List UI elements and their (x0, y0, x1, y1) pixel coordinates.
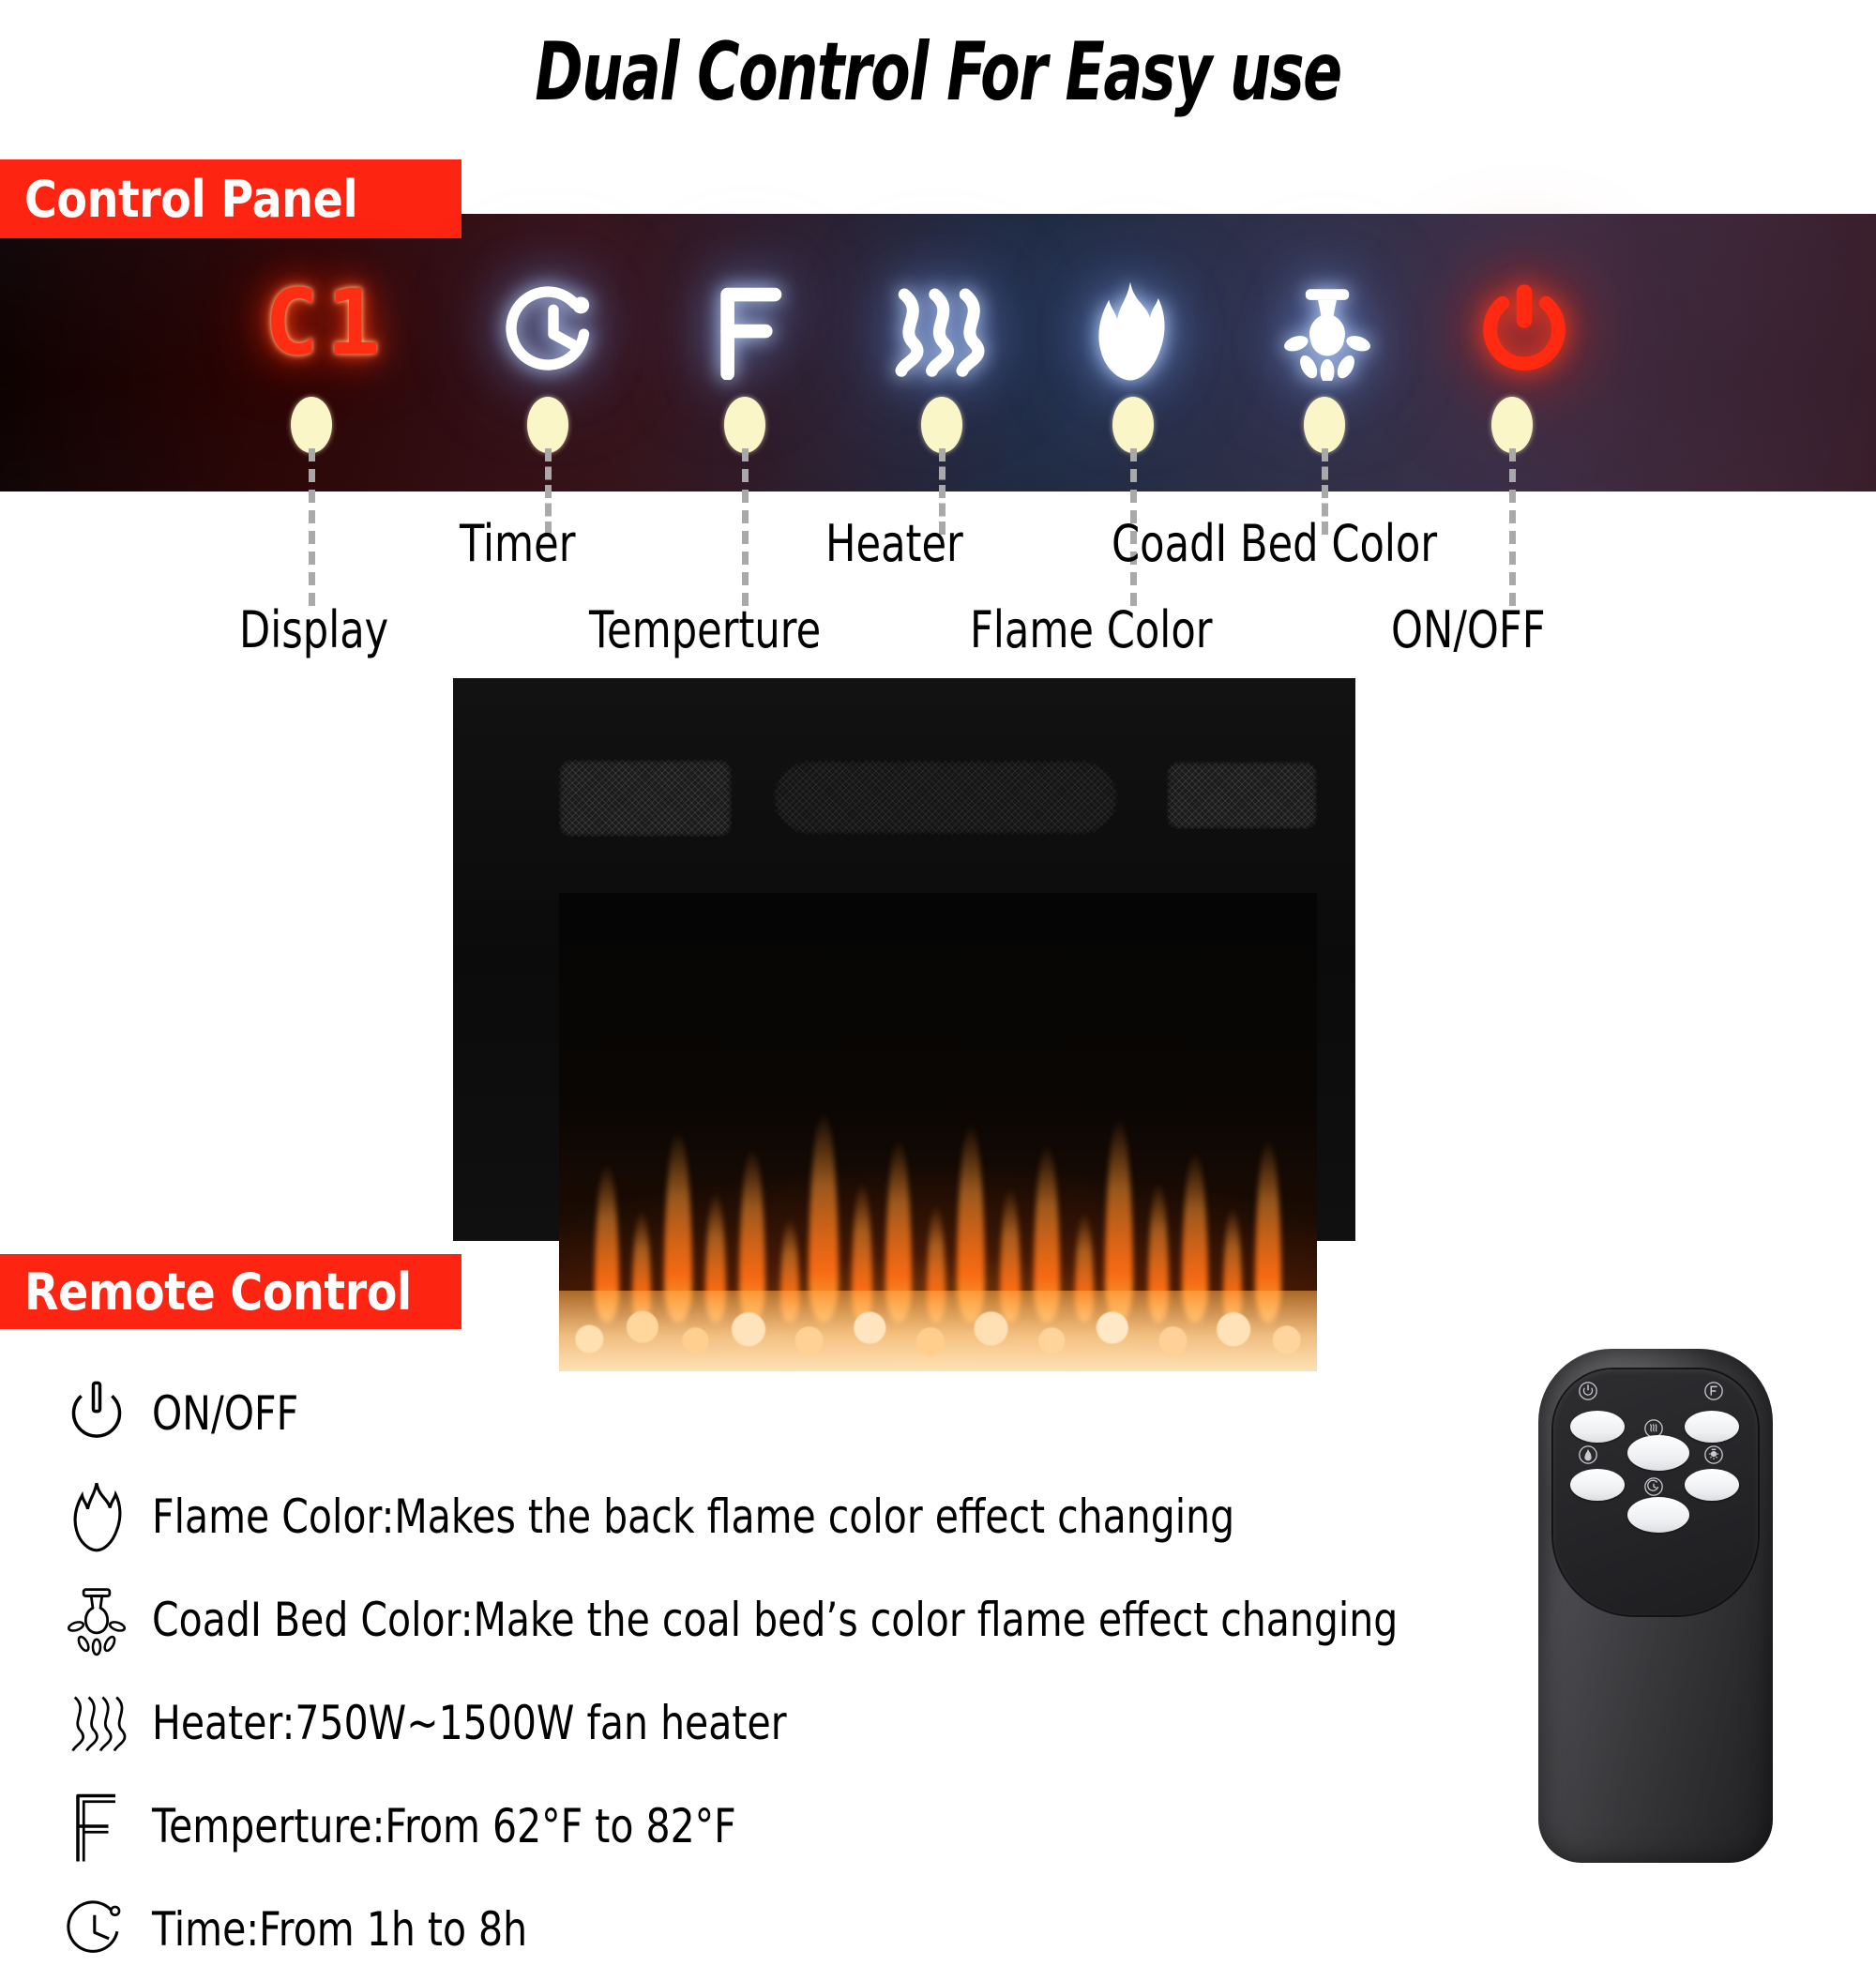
callout-label-on-off: ON/OFF (1391, 600, 1546, 659)
vent-grille-left (559, 760, 732, 837)
remote-button[interactable] (1627, 1497, 1689, 1533)
display-readout: C1 (265, 270, 388, 375)
callout-label-heater: Heater (825, 514, 963, 573)
temperature-f-icon (56, 1786, 137, 1867)
list-item: Time:From 1h to 8h (56, 1878, 1520, 1981)
callout-label-temperture: Temperture (589, 600, 821, 659)
callout-marker (724, 397, 765, 453)
remote-button[interactable] (1570, 1469, 1625, 1501)
coal-bed-bulb-icon[interactable] (1266, 280, 1388, 383)
timer-icon-glyph (505, 282, 602, 380)
list-item: CoadI Bed Color:Make the coal bed’s colo… (56, 1568, 1520, 1671)
coal-bed-bulb-icon (56, 1580, 137, 1660)
list-item-text: Temperture:From 62°F to 82°F (152, 1799, 736, 1853)
fireplace-product-image (453, 678, 1355, 1241)
flame-icon (1574, 1441, 1602, 1469)
list-item-text: Flame Color:Makes the back flame color e… (152, 1490, 1234, 1544)
coal-bed-bulb-icon (1700, 1441, 1728, 1469)
power-icon[interactable] (1463, 280, 1585, 383)
power-icon (56, 1373, 137, 1454)
timer-icon (56, 1889, 137, 1970)
callout-marker (291, 397, 332, 453)
firebox-window (559, 893, 1317, 1371)
ember-crystal-bed (559, 1291, 1317, 1371)
flame-icon[interactable] (1069, 280, 1191, 383)
callout-marker (1491, 397, 1533, 453)
temperature-f-icon[interactable] (694, 280, 807, 383)
callout-leader (1509, 448, 1516, 606)
heater-waves-icon (56, 1683, 137, 1763)
callout-leader (742, 448, 749, 606)
control-panel-strip: Control Panel C1 (0, 214, 1876, 491)
list-item-text: Time:From 1h to 8h (152, 1902, 527, 1957)
remote-button[interactable] (1685, 1411, 1739, 1443)
power-icon (1574, 1377, 1602, 1405)
list-item-text: CoadI Bed Color:Make the coal bed’s colo… (152, 1593, 1398, 1647)
temperature-f-icon (1700, 1377, 1728, 1405)
vent-grille-center (773, 760, 1118, 835)
callout-marker (527, 397, 568, 453)
list-item-text: Heater:750W~1500W fan heater (152, 1696, 787, 1750)
timer-icon[interactable] (497, 280, 610, 383)
temperature-f-icon-glyph (707, 282, 794, 380)
heater-waves-icon[interactable] (872, 280, 1004, 383)
flame-icon (56, 1476, 137, 1557)
callout-label-coal-bed-color: CoadI Bed Color (1112, 514, 1437, 573)
remote-keypad (1553, 1369, 1758, 1615)
callout-label-timer: Timer (460, 514, 575, 573)
list-item-text: ON/OFF (152, 1386, 298, 1441)
remote-button[interactable] (1570, 1411, 1625, 1443)
coal-bed-bulb-icon-glyph (1278, 281, 1377, 381)
page-title: Dual Control For Easy use (263, 32, 1613, 114)
list-item: ON/OFF (56, 1362, 1520, 1465)
callout-label-display: Display (239, 600, 388, 659)
callout-label-flame-color: Flame Color (970, 600, 1213, 659)
callout-marker (921, 397, 962, 453)
remote-button[interactable] (1627, 1435, 1689, 1471)
callout-marker (1112, 397, 1154, 453)
control-panel-badge-label: Control Panel (24, 170, 357, 229)
flame-icon-glyph (1085, 279, 1175, 384)
remote-control-badge: Remote Control (0, 1254, 461, 1329)
remote-feature-list: ON/OFF Flame Color:Makes the back flame … (56, 1362, 1520, 1981)
list-item: Temperture:From 62°F to 82°F (56, 1775, 1520, 1878)
vent-grille-right (1167, 762, 1317, 829)
remote-control-badge-label: Remote Control (24, 1263, 412, 1322)
power-icon-glyph (1477, 281, 1571, 381)
callout-leader (309, 448, 315, 606)
heater-waves-icon-glyph (882, 282, 994, 380)
page-root: Dual Control For Easy use Control Panel … (0, 0, 1876, 1876)
remote-device (1538, 1349, 1773, 1863)
list-item: Heater:750W~1500W fan heater (56, 1671, 1520, 1775)
callout-marker (1304, 397, 1345, 453)
list-item: Flame Color:Makes the back flame color e… (56, 1465, 1520, 1568)
remote-button[interactable] (1685, 1469, 1739, 1501)
control-panel-badge: Control Panel (0, 159, 461, 238)
